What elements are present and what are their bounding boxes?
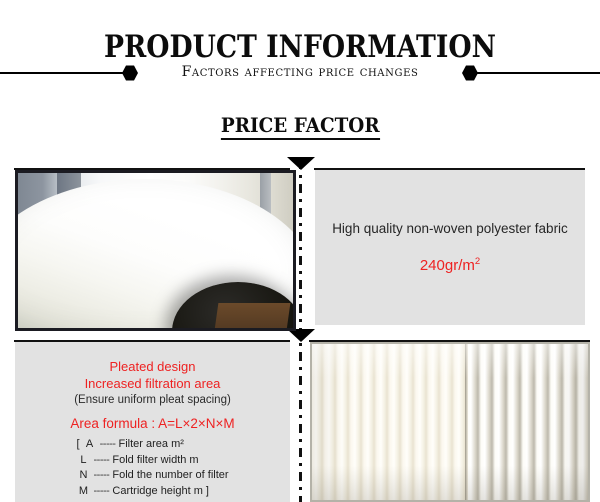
legend-item: M ----- Cartridge height m ] [76, 484, 228, 500]
pleat-formula-panel-cell: Pleated design Increased filtration area… [15, 342, 290, 502]
pleat-design-headline: Pleated design [15, 358, 290, 375]
pleat-formula-panel: Pleated design Increased filtration area… [15, 342, 290, 502]
fabric-spec-panel-cell: High quality non-woven polyester fabric … [315, 170, 585, 325]
fabric-spec-description: High quality non-woven polyester fabric [332, 220, 568, 238]
fabric-roll-photo-cell [15, 170, 290, 325]
legend-dash: ----- [94, 485, 110, 497]
legend-dash: ----- [94, 469, 110, 481]
page-header: PRODUCT INFORMATION Factors affecting pr… [0, 0, 600, 155]
fabric-roll-image [15, 170, 296, 331]
fabric-spec-weight: 240gr/m2 [420, 252, 480, 276]
section-title: PRICE FACTOR [0, 113, 600, 140]
content-grid: High quality non-woven polyester fabric … [0, 170, 600, 502]
fabric-spec-panel: High quality non-woven polyester fabric … [315, 170, 585, 325]
page-subtitle: Factors affecting price changes [0, 62, 600, 82]
legend-text: Fold filter width m [112, 454, 198, 466]
photo-pallet [214, 303, 290, 331]
legend-item: L ----- Fold filter width m [76, 453, 228, 469]
legend-text: Filter area m² [119, 438, 184, 450]
fabric-spec-weight-superscript: 2 [475, 256, 480, 267]
pleated-filter-image [310, 342, 590, 502]
legend-symbol: M [76, 484, 90, 500]
legend-bracket: [ [76, 438, 79, 450]
legend-symbol: N [76, 468, 90, 484]
legend-symbol: L [76, 453, 90, 469]
page-title: PRODUCT INFORMATION [42, 30, 558, 64]
section-title-text: PRICE FACTOR [221, 113, 380, 140]
pleat-shading-overlay [312, 344, 588, 500]
pleated-filter-photo-cell [310, 342, 590, 502]
legend-dash: ----- [100, 438, 116, 450]
area-formula: Area formula : A=L×2×N×M [15, 414, 290, 434]
formula-legend-list: [ A ----- Filter area m² L ----- Fold fi… [76, 437, 228, 499]
legend-dash: ----- [94, 454, 110, 466]
legend-text: Fold the number of filter [112, 469, 228, 481]
legend-text: Cartridge height m ] [112, 485, 209, 497]
arrow-down-icon-top [287, 157, 315, 170]
fabric-spec-weight-value: 240gr/m [420, 257, 475, 274]
legend-item: N ----- Fold the number of filter [76, 468, 228, 484]
legend-item: [ A ----- Filter area m² [76, 437, 228, 453]
pleat-area-headline: Increased filtration area [15, 375, 290, 392]
legend-symbol: A [83, 437, 97, 453]
pleat-spacing-note: (Ensure uniform pleat spacing) [15, 392, 290, 409]
